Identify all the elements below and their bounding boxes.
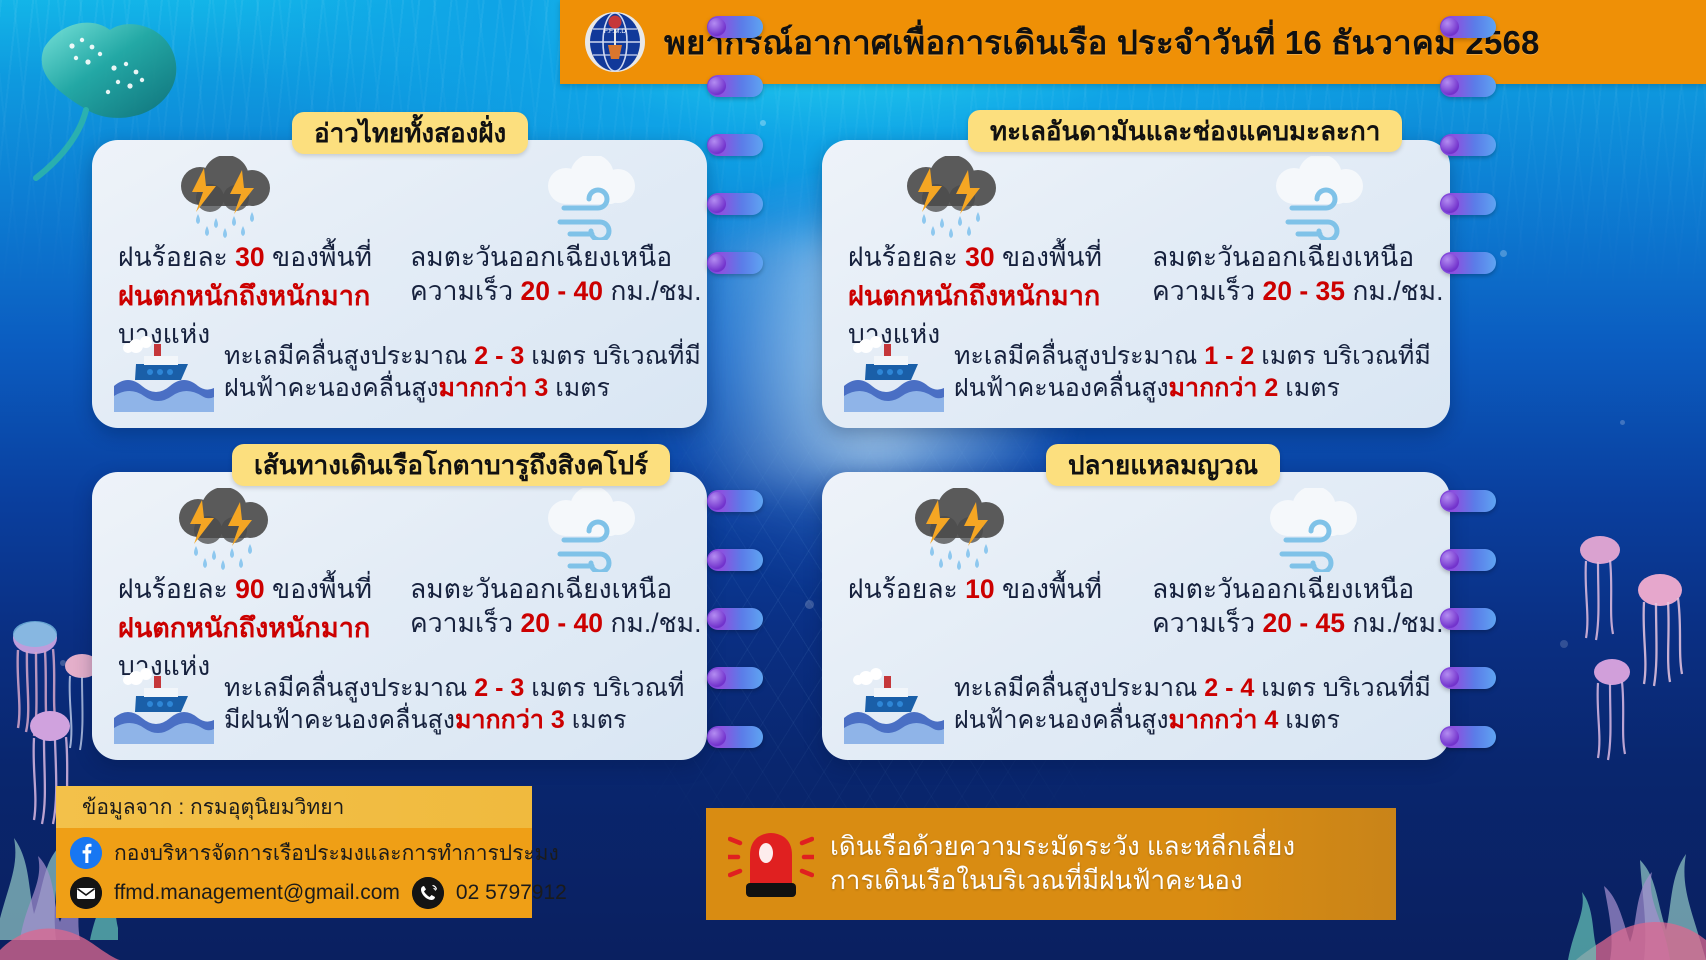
wind-column: ลมตะวันออกเฉียงเหนือ ความเร็ว 20 - 40 กม… <box>410 154 710 309</box>
forecast-card-cape-ca-mau: ฝนร้อยละ 10 ของพื้นที่ ลมตะวันออกเฉียงเห… <box>822 472 1450 760</box>
wave-line-1: ทะเลมีคลื่นสูงประมาณ 2 - 4 เมตร บริเวณที… <box>954 673 1431 705</box>
wave-line-2: ฝนฟ้าคะนองคลื่นสูงมากกว่า 2 เมตร <box>954 373 1431 405</box>
wave-line-1: ทะเลมีคลื่นสูงประมาณ 2 - 3 เมตร บริเวณที… <box>224 341 701 373</box>
wind-direction-text: ลมตะวันออกเฉียงเหนือ <box>410 240 710 274</box>
thunderstorm-rain-icon <box>164 154 418 240</box>
wave-alert-value: มากกว่า 2 <box>1169 374 1279 402</box>
spiral-rings-card2 <box>1440 16 1498 276</box>
card-title-cape-ca-mau: ปลายแหลมญวณ <box>1046 444 1280 486</box>
boat-on-waves-icon <box>114 334 214 412</box>
rain-percent-line: ฝนร้อยละ 30 ของพื้นที่ <box>848 240 1148 274</box>
rain-percent-value: 90 <box>235 574 264 604</box>
warning-line-2: การเดินเรือในบริเวณที่มีฝนฟ้าคะนอง <box>830 864 1295 898</box>
wave-row: ทะเลมีคลื่นสูงประมาณ 1 - 2 เมตร บริเวณที… <box>844 334 1434 412</box>
wind-column: ลมตะวันออกเฉียงเหนือ ความเร็ว 20 - 45 กม… <box>1152 486 1452 641</box>
facebook-row[interactable]: กองบริหารจัดการเรือประมงและการทำการประมง <box>70 833 532 873</box>
card-title-andaman-malacca: ทะเลอันดามันและช่องแคบมะละกา <box>968 110 1402 152</box>
warning-banner: เดินเรือด้วยความระมัดระวัง และหลีกเลี่ยง… <box>706 808 1396 920</box>
source-text: ข้อมูลจาก : กรมอุตุนิยมวิทยา <box>82 791 344 824</box>
wind-direction-text: ลมตะวันออกเฉียงเหนือ <box>1152 572 1452 606</box>
thunderstorm-rain-icon <box>898 486 1148 572</box>
wave-line-2: ฝนฟ้าคะนองคลื่นสูงมากกว่า 4 เมตร <box>954 705 1431 737</box>
wind-speed-line: ความเร็ว 20 - 35 กม./ชม. <box>1152 274 1452 308</box>
rain-percent-value: 30 <box>235 242 264 272</box>
wave-line-2: มีฝนฟ้าคะนองคลื่นสูงมากกว่า 3 เมตร <box>224 705 684 737</box>
warning-text: เดินเรือด้วยความระมัดระวัง และหลีกเลี่ยง… <box>830 830 1295 898</box>
cloud-wind-icon <box>1252 486 1452 572</box>
wave-text: ทะเลมีคลื่นสูงประมาณ 2 - 3 เมตร บริเวณที… <box>224 341 701 412</box>
page-title: พยากรณ์อากาศเพื่อการเดินเรือ ประจำวันที่… <box>664 16 1540 69</box>
wave-range-value: 2 - 3 <box>474 342 524 370</box>
wave-line-1: ทะเลมีคลื่นสูงประมาณ 2 - 3 เมตร บริเวณที… <box>224 673 684 705</box>
wind-speed-line: ความเร็ว 20 - 40 กม./ชม. <box>410 274 710 308</box>
rain-column: ฝนร้อยละ 30 ของพื้นที่ ฝนตกหนักถึงหนักมา… <box>118 154 418 352</box>
boat-on-waves-icon <box>114 666 214 744</box>
wave-range-value: 1 - 2 <box>1204 342 1254 370</box>
facebook-icon[interactable] <box>70 837 102 869</box>
envelope-icon[interactable] <box>70 877 102 909</box>
wind-direction-text: ลมตะวันออกเฉียงเหนือ <box>1152 240 1452 274</box>
cloud-wind-icon <box>1258 154 1452 240</box>
wave-line-2: ฝนฟ้าคะนองคลื่นสูงมากกว่า 3 เมตร <box>224 373 701 405</box>
svg-text:F.F.M.D: F.F.M.D <box>604 28 626 35</box>
spiral-rings-card1 <box>707 16 765 276</box>
wave-row: ทะเลมีคลื่นสูงประมาณ 2 - 3 เมตร บริเวณที… <box>114 334 691 412</box>
rain-alert-text: ฝนตกหนักถึงหนักมาก <box>118 274 418 317</box>
rain-alert-text: ฝนตกหนักถึงหนักมาก <box>118 606 418 649</box>
wave-text: ทะเลมีคลื่นสูงประมาณ 2 - 4 เมตร บริเวณที… <box>954 673 1431 744</box>
wave-range-value: 2 - 4 <box>1204 674 1254 702</box>
right-sealife-decor <box>1560 440 1706 960</box>
wind-column: ลมตะวันออกเฉียงเหนือ ความเร็ว 20 - 40 กม… <box>410 486 710 641</box>
ffmd-logo-icon: F.F.M.D <box>584 11 646 73</box>
rain-column: ฝนร้อยละ 30 ของพื้นที่ ฝนตกหนักถึงหนักมา… <box>848 154 1148 352</box>
wave-row: ทะเลมีคลื่นสูงประมาณ 2 - 3 เมตร บริเวณที… <box>114 666 691 744</box>
boat-on-waves-icon <box>844 666 944 744</box>
facebook-name: กองบริหารจัดการเรือประมงและการทำการประมง <box>114 837 559 870</box>
wave-alert-value: มากกว่า 3 <box>439 374 549 402</box>
wind-speed-value: 20 - 40 <box>521 276 604 306</box>
wind-column: ลมตะวันออกเฉียงเหนือ ความเร็ว 20 - 35 กม… <box>1152 154 1452 309</box>
forecast-card-andaman-malacca: ฝนร้อยละ 30 ของพื้นที่ ฝนตกหนักถึงหนักมา… <box>822 140 1450 428</box>
cloud-wind-icon <box>530 486 710 572</box>
card-title-gulf-of-thailand: อ่าวไทยทั้งสองฝั่ง <box>292 112 528 154</box>
cloud-wind-icon <box>530 154 710 240</box>
rain-percent-line: ฝนร้อยละ 10 ของพื้นที่ <box>848 572 1148 606</box>
wind-speed-value: 20 - 35 <box>1263 276 1346 306</box>
warning-line-1: เดินเรือด้วยความระมัดระวัง และหลีกเลี่ยง <box>830 830 1295 864</box>
wave-range-value: 2 - 3 <box>474 674 524 702</box>
spiral-rings-card3 <box>707 490 765 750</box>
contact-bar: กองบริหารจัดการเรือประมงและการทำการประมง… <box>56 828 532 918</box>
rain-percent-line: ฝนร้อยละ 30 ของพื้นที่ <box>118 240 418 274</box>
wind-speed-line: ความเร็ว 20 - 40 กม./ชม. <box>410 606 710 640</box>
card-title-kota-bharu-singapore-route: เส้นทางเดินเรือโกตาบารูถึงสิงคโปร์ <box>232 444 670 486</box>
thunderstorm-rain-icon <box>890 154 1148 240</box>
phone-text: 02 5797912 <box>456 881 567 905</box>
rain-column: ฝนร้อยละ 10 ของพื้นที่ <box>848 486 1148 606</box>
wave-row: ทะเลมีคลื่นสูงประมาณ 2 - 4 เมตร บริเวณที… <box>844 666 1434 744</box>
forecast-card-gulf-of-thailand: ฝนร้อยละ 30 ของพื้นที่ ฝนตกหนักถึงหนักมา… <box>92 140 707 428</box>
contact-row[interactable]: ffmd.management@gmail.com 02 5797912 <box>70 873 532 913</box>
wave-alert-value: มากกว่า 4 <box>1169 706 1279 734</box>
email-text: ffmd.management@gmail.com <box>114 881 400 905</box>
thunderstorm-rain-icon <box>162 486 418 572</box>
forecast-card-kota-bharu-singapore-route: ฝนร้อยละ 90 ของพื้นที่ ฝนตกหนักถึงหนักมา… <box>92 472 707 760</box>
wind-direction-text: ลมตะวันออกเฉียงเหนือ <box>410 572 710 606</box>
wave-text: ทะเลมีคลื่นสูงประมาณ 1 - 2 เมตร บริเวณที… <box>954 341 1431 412</box>
wave-text: ทะเลมีคลื่นสูงประมาณ 2 - 3 เมตร บริเวณที… <box>224 673 684 744</box>
wave-line-1: ทะเลมีคลื่นสูงประมาณ 1 - 2 เมตร บริเวณที… <box>954 341 1431 373</box>
wind-speed-value: 20 - 45 <box>1263 608 1346 638</box>
source-bar: ข้อมูลจาก : กรมอุตุนิยมวิทยา <box>56 786 532 828</box>
rain-column: ฝนร้อยละ 90 ของพื้นที่ ฝนตกหนักถึงหนักมา… <box>118 486 418 684</box>
phone-icon[interactable] <box>412 877 444 909</box>
siren-alert-icon <box>728 821 814 907</box>
rain-alert-text: ฝนตกหนักถึงหนักมาก <box>848 274 1148 317</box>
infographic-canvas: F.F.M.D พยากรณ์อากาศเพื่อการเดินเรือ ประ… <box>0 0 1706 960</box>
spiral-rings-card4 <box>1440 490 1498 750</box>
rain-percent-value: 10 <box>965 574 994 604</box>
rain-percent-value: 30 <box>965 242 994 272</box>
boat-on-waves-icon <box>844 334 944 412</box>
wind-speed-line: ความเร็ว 20 - 45 กม./ชม. <box>1152 606 1452 640</box>
rain-percent-line: ฝนร้อยละ 90 ของพื้นที่ <box>118 572 418 606</box>
wave-alert-value: มากกว่า 3 <box>455 706 565 734</box>
wind-speed-value: 20 - 40 <box>521 608 604 638</box>
